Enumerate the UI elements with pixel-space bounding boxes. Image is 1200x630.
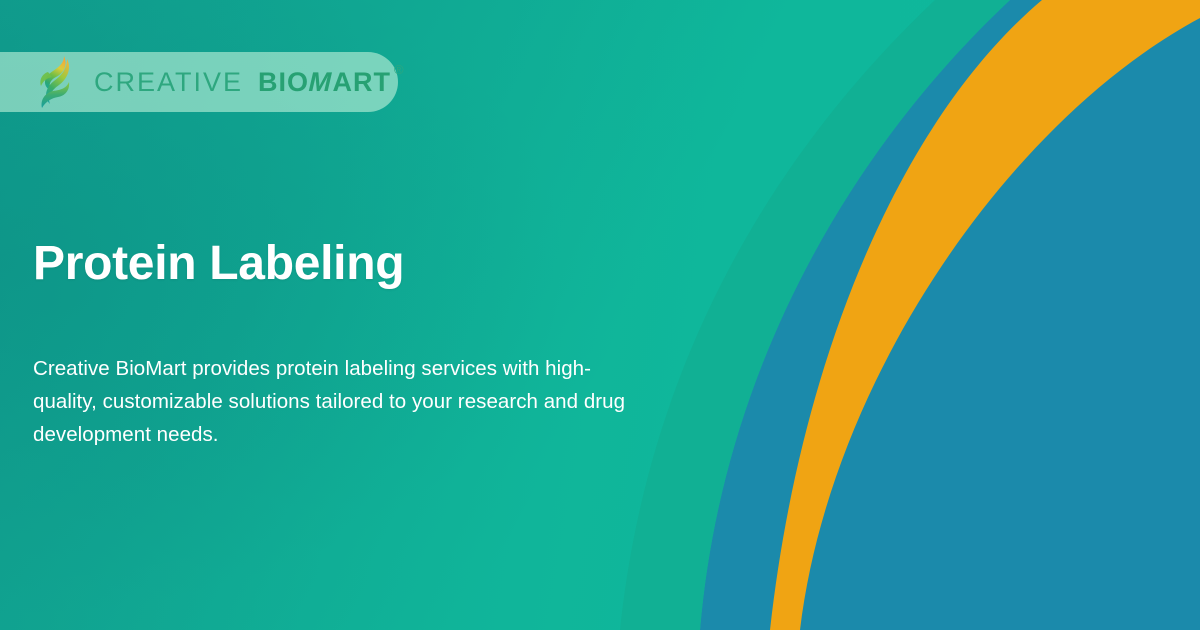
wordmark-creative: CREATIVE	[94, 69, 243, 96]
wordmark-biomart: BIOMART	[258, 69, 391, 96]
page-title: Protein Labeling	[33, 238, 404, 290]
brand-wordmark: CREATIVE BIOMART ®	[94, 69, 404, 96]
creative-biomart-leaf-helix-logo-icon	[34, 52, 82, 112]
brand-logo[interactable]: CREATIVE BIOMART ®	[0, 52, 398, 112]
hero-description: Creative BioMart provides protein labeli…	[33, 352, 633, 452]
hero-banner: CREATIVE BIOMART ® Protein Labeling Crea…	[0, 0, 1200, 630]
registered-trademark-symbol: ®	[394, 63, 404, 76]
